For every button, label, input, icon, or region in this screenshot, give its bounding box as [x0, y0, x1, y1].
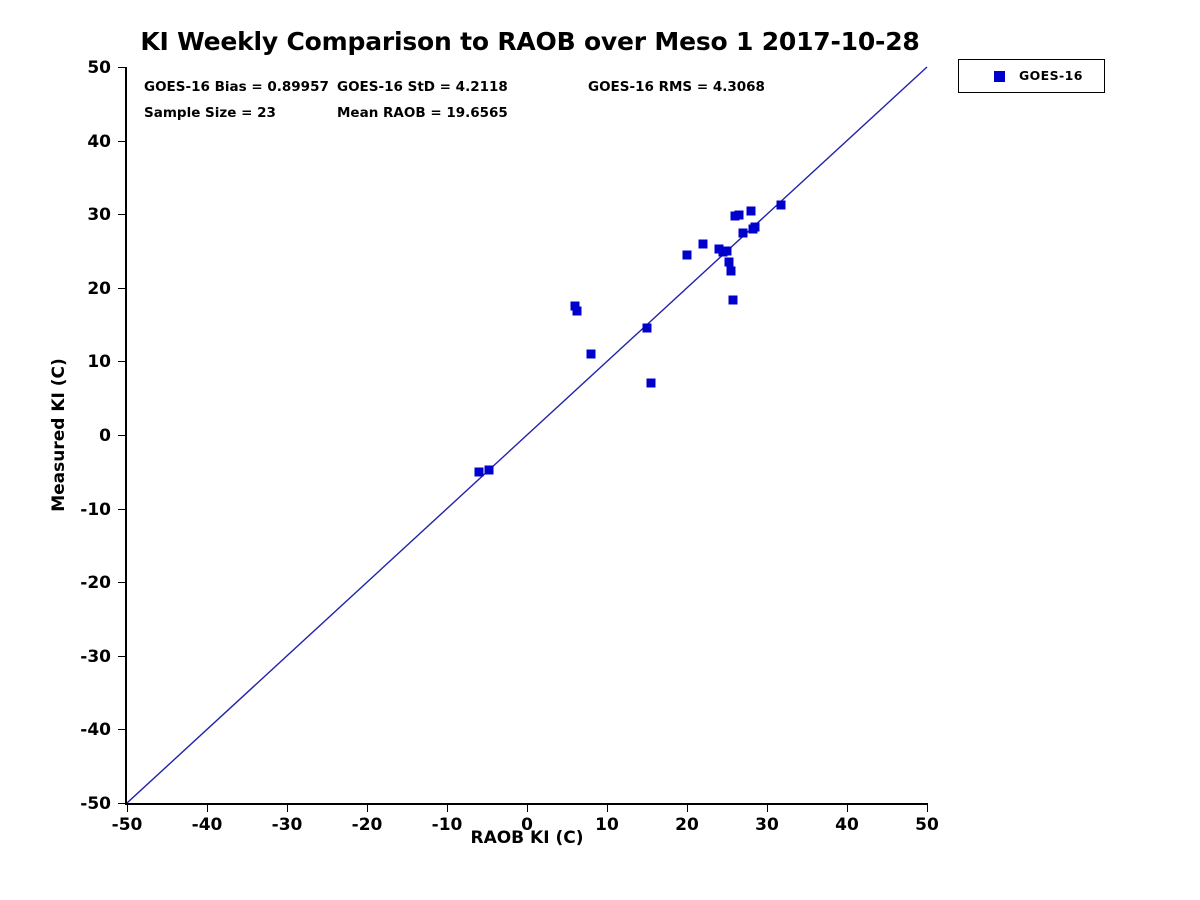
legend-box: GOES-16 — [958, 59, 1105, 93]
y-tick — [118, 509, 127, 510]
scatter-point — [751, 223, 760, 232]
legend-swatch-goes16 — [994, 71, 1005, 82]
x-tick — [607, 803, 608, 812]
y-tick — [118, 582, 127, 583]
x-tick — [127, 803, 128, 812]
scatter-point — [484, 466, 493, 475]
legend-label-goes16: GOES-16 — [1019, 68, 1083, 83]
scatter-point — [699, 239, 708, 248]
scatter-point — [647, 379, 656, 388]
x-tick — [527, 803, 528, 812]
scatter-point — [723, 247, 732, 256]
scatter-point — [739, 228, 748, 237]
x-tick — [847, 803, 848, 812]
y-tick-label: 30 — [41, 205, 111, 225]
plot-area: GOES-16 Bias = 0.89957 GOES-16 StD = 4.2… — [125, 67, 927, 805]
y-tick — [118, 729, 127, 730]
x-axis-label: RAOB KI (C) — [127, 828, 927, 848]
y-tick — [118, 214, 127, 215]
scatter-point — [747, 207, 756, 216]
y-tick-label: -40 — [41, 720, 111, 740]
y-tick — [118, 288, 127, 289]
x-tick — [687, 803, 688, 812]
y-tick-label: 50 — [41, 58, 111, 78]
scatter-point — [683, 251, 692, 260]
scatter-point — [725, 258, 734, 267]
y-tick-label: -50 — [41, 794, 111, 814]
chart-title: KI Weekly Comparison to RAOB over Meso 1… — [0, 27, 1060, 56]
scatter-point — [475, 467, 484, 476]
y-tick — [118, 67, 127, 68]
scatter-point — [573, 307, 582, 316]
y-tick — [118, 141, 127, 142]
x-tick — [927, 803, 928, 812]
scatter-points-layer — [127, 67, 927, 803]
scatter-point — [776, 200, 785, 209]
y-tick — [118, 803, 127, 804]
x-tick — [207, 803, 208, 812]
y-tick — [118, 656, 127, 657]
y-tick — [118, 435, 127, 436]
scatter-point — [587, 350, 596, 359]
scatter-point — [735, 210, 744, 219]
scatter-point — [729, 296, 738, 305]
y-tick-label: -30 — [41, 647, 111, 667]
x-tick — [767, 803, 768, 812]
y-tick-label: 40 — [41, 132, 111, 152]
x-tick — [447, 803, 448, 812]
x-tick — [287, 803, 288, 812]
y-tick — [118, 361, 127, 362]
chart-figure: KI Weekly Comparison to RAOB over Meso 1… — [0, 0, 1200, 900]
x-tick — [367, 803, 368, 812]
scatter-point — [727, 266, 736, 275]
y-axis-label: Measured KI (C) — [49, 285, 69, 585]
scatter-point — [643, 324, 652, 333]
